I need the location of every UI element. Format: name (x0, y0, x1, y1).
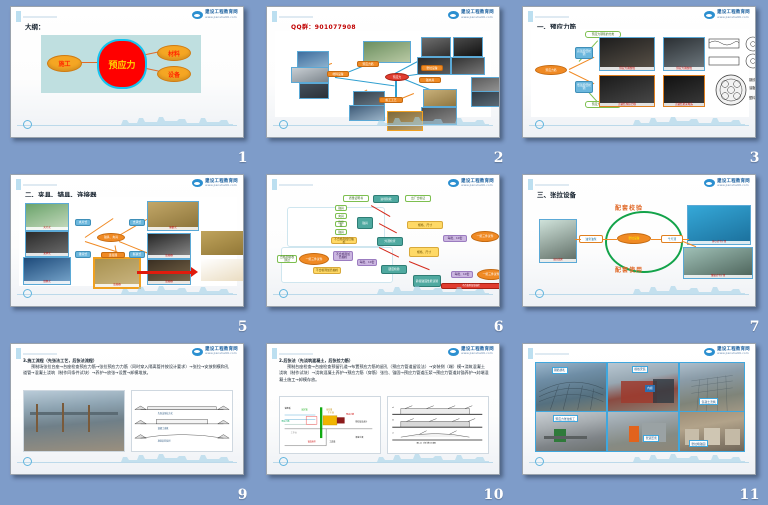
slide-cell-9[interactable]: 建设工程教育网 www.jianshe99.com 3.施工流程（先张法工艺，后… (0, 337, 256, 505)
slide-number-3: 3 (750, 150, 760, 166)
mindmap-center: 预应力 (99, 41, 145, 87)
node-anchor: 锚夹具 (419, 77, 441, 83)
body-paragraph: 预制场张拉台座→台座检查预应力筋→张拉预应力力筋（同时穿入隔离管并按设计要求）→… (23, 364, 233, 377)
brand-logo: 建设工程教育网 www.jianshe99.com (448, 11, 494, 19)
slide-cell-3[interactable]: 建设工程教育网 www.jianshe99.com 一、预应力筋 预应力钢筋的分… (512, 0, 768, 168)
logo-disc-icon (448, 348, 459, 356)
node-group-sample: 一组三件试件 (477, 269, 500, 280)
svg-text:钢绞线: 钢绞线 (749, 77, 756, 82)
photo-caption: 握裹式 (148, 227, 198, 230)
unbonded-section-diagram: 钢绞线 油脂 塑料护套 (709, 73, 756, 107)
brand-url: www.jianshe99.com (461, 184, 494, 187)
photo-tensioning-work: 预应力张拉施工 (536, 412, 606, 451)
node-hardness: 硬度检验 (381, 265, 407, 274)
node-batch: 每批、10套 (357, 259, 377, 266)
slide-5[interactable]: 建设工程教育网 www.jianshe99.com 二、夹具、锚具、连接器 夹片… (10, 174, 244, 306)
node-grip: 握裹式 (129, 251, 145, 258)
logo-disc-icon (192, 179, 203, 187)
slide-7[interactable]: 建设工程教育网 www.jianshe99.com 三、张拉设备 配套校验 配套… (522, 174, 756, 306)
flow-canvas: 进场验收 质量证明书 出厂合格证 锚具 锚具 夹具 连接器 锚具 外观检查 规格… (275, 189, 493, 285)
figure-row: 先张法张拉方式 混凝土浇筑 放张后的反拱 (23, 390, 233, 452)
brand-logo: 建设工程教育网 www.jianshe99.com (448, 179, 494, 187)
slide-body: 3.施工流程（先张法工艺，后张法流程） 预制场张拉台座→台座检查预应力筋→张拉预… (23, 358, 233, 377)
node-anchor-group: 锚具 (357, 217, 373, 229)
slide-number-9: 9 (238, 487, 248, 503)
node-low-relax: 低强度低松弛 (575, 81, 593, 93)
node-group-sample: 一组三件试件 (471, 231, 499, 242)
slide-number-1: 1 (238, 150, 248, 166)
decor-line (23, 16, 57, 18)
logo-disc-icon (448, 179, 459, 187)
node-spec-check: 规格、尺寸 (409, 247, 439, 257)
brand-logo: 建设工程教育网 www.jianshe99.com (192, 11, 238, 19)
svg-text:塑料护套: 塑料护套 (749, 95, 756, 100)
svg-text:锚垫板: 锚垫板 (285, 406, 291, 410)
brand-url: www.jianshe99.com (717, 184, 750, 187)
svg-text:工作台: 工作台 (291, 430, 297, 434)
slide-footer (11, 118, 243, 132)
node-note: 不合格则加倍抽检 (331, 237, 357, 244)
slide-11[interactable]: 建设工程教育网 www.jianshe99.com 钢筋绑扎 (522, 343, 756, 475)
svg-text:a): a) (392, 407, 394, 409)
post-tension-stages-diagram: a) b) c) 图2-14 后张法施工示意图 (387, 396, 489, 454)
strand-diagram (707, 35, 756, 71)
photo-concrete-pour: 混凝土浇筑 (680, 363, 744, 411)
slide-number-6: 6 (494, 319, 504, 335)
logo-disc-icon (704, 348, 715, 356)
photo-label: 管道压浆 (643, 435, 659, 442)
footer-circle-icon (23, 120, 32, 129)
arrow-head-icon (191, 267, 198, 277)
slide-number-10: 10 (484, 487, 504, 503)
node-item: 锚具 (335, 205, 347, 211)
ring-top-label: 配套校验 (615, 203, 643, 212)
svg-text:限位板及夹片: 限位板及夹片 (355, 420, 367, 424)
brand-url: www.jianshe99.com (205, 16, 238, 19)
photo-caption: 夹片式 (26, 227, 68, 230)
svg-text:预应力筋: 预应力筋 (346, 412, 354, 416)
photo-formwork: 模板安装 内模 (608, 363, 678, 411)
brand-logo: 建设工程教育网 www.jianshe99.com (192, 348, 238, 356)
svg-text:固定端: 固定端 (302, 407, 308, 411)
photo-caption: 锥塞式 (24, 281, 70, 284)
slide-cell-10[interactable]: 建设工程教育网 www.jianshe99.com 2.后张法（先浇筑混凝土，后… (256, 337, 512, 505)
anchorage-detail-diagram: 锚垫板 固定端 张拉端 预应力筋 千斤顶 预应力筋 限位板及夹片 工作台 锚具组… (279, 396, 381, 454)
photo-caption: 无粘结筋束端头 (664, 103, 704, 106)
brand-url: www.jianshe99.com (717, 16, 750, 19)
node-factory-cert: 出厂合格证 (405, 195, 431, 202)
logo-disc-icon (192, 11, 203, 19)
slide-1[interactable]: 建设工程教育网 www.jianshe99.com 大纲： 预应力 施工 材料 … (10, 6, 244, 138)
node-spec-size: 规格、尺寸 (407, 221, 443, 229)
slide-3[interactable]: 建设工程教育网 www.jianshe99.com 一、预应力筋 预应力钢筋的分… (522, 6, 756, 138)
node-hardness-value: 不合格则加倍抽检 (333, 251, 353, 261)
node-appearance: 外观检查 (377, 237, 403, 246)
slide-cell-7[interactable]: 建设工程教育网 www.jianshe99.com 三、张拉设备 配套校验 配套… (512, 168, 768, 336)
photo-caption: 锥锚式千斤顶 (684, 275, 752, 278)
logo-disc-icon (192, 348, 203, 356)
photo-caption: 预应力钢绞线 (664, 67, 704, 70)
photo-caption: 穿心式千斤顶 (688, 241, 750, 244)
node-oil-pump: 油泵油泵 (579, 235, 603, 243)
logo-disc-icon (704, 179, 715, 187)
site-photo (23, 390, 125, 452)
logo-disc-icon (704, 11, 715, 19)
node-wedge: 夹片式 (75, 219, 91, 226)
photo-rebar: 钢筋绑扎 (536, 363, 606, 411)
node-jack: 千斤顶 (661, 235, 683, 243)
brand-logo: 建设工程教育网 www.jianshe99.com (704, 348, 750, 356)
photo-label: 张拉端锚固 (689, 440, 708, 447)
node-item: 夹具 (335, 213, 347, 219)
brand-url: www.jianshe99.com (461, 352, 494, 355)
slide-number-7: 7 (750, 319, 760, 335)
mindmap-branch-equipment: 设备 (157, 66, 191, 82)
node-jack: 张拉设备 (421, 65, 443, 71)
node-process: 施工工艺 (379, 97, 403, 103)
slide-cell-1[interactable]: 建设工程教育网 www.jianshe99.com 大纲： 预应力 施工 材料 … (0, 0, 256, 168)
ring-canvas: 配套校验 配套使用 高压油泵 穿心式千斤顶 锥锚式千斤顶 油泵油泵 张拉设备 千… (531, 197, 749, 285)
svg-text:工具锚: 工具锚 (329, 440, 335, 444)
arrow-line (137, 271, 193, 274)
logo-disc-icon (448, 11, 459, 19)
photo-label: 钢筋绑扎 (552, 367, 568, 374)
decor-mark (16, 11, 21, 22)
node-cone: 锥塞式 (75, 251, 91, 258)
brand-logo: 建设工程教育网 www.jianshe99.com (192, 179, 238, 187)
mindmap-branch-material: 材料 (157, 45, 191, 61)
node-connector: 连接器 (101, 252, 125, 258)
page-title: 大纲： (25, 21, 45, 31)
photo-label: 混凝土浇筑 (699, 398, 718, 405)
mindmap-canvas: 预应力 施工 材料 设备 (41, 35, 201, 93)
svg-text:锚具组件: 锚具组件 (308, 440, 316, 444)
node-high-strength: 高强度低松弛 (575, 47, 593, 59)
slide-cell-2[interactable]: 建设工程教育网 www.jianshe99.com QQ群：901077908 (256, 0, 512, 168)
slide-cell-6[interactable]: 建设工程教育网 www.jianshe99.com 进场验收 质量证明书 出厂合… (256, 168, 512, 336)
slide-cell-5[interactable]: 建设工程教育网 www.jianshe99.com 二、夹具、锚具、连接器 夹片… (0, 168, 256, 336)
mindmap-branch-construction: 施工 (47, 55, 82, 72)
svg-text:c): c) (392, 433, 394, 435)
photo-caption: 支承式 (26, 253, 68, 256)
svg-text:先张法张拉方式: 先张法张拉方式 (158, 411, 174, 415)
node-pass: 合格则验收通过 (277, 255, 297, 263)
node-acceptance: 进场验收 (373, 195, 399, 203)
mindmap-center: 预应力 (385, 73, 409, 81)
photo-caption: 连接器 (148, 255, 190, 258)
node-quality-cert: 质量证明书 (343, 195, 369, 202)
slide-10[interactable]: 建设工程教育网 www.jianshe99.com 2.后张法（先浇筑混凝土，后… (266, 343, 500, 475)
skyline-watermark (113, 115, 233, 125)
svg-text:放张后的反拱: 放张后的反拱 (158, 439, 172, 443)
mindmap-canvas: 夹片式 支承式 锥塞式 握裹式 连接器 连接器 (19, 197, 237, 285)
qq-group-text: QQ群：901077908 (291, 22, 356, 31)
slide-cell-11[interactable]: 建设工程教育网 www.jianshe99.com 钢筋绑扎 (512, 337, 768, 505)
slide-6[interactable]: 建设工程教育网 www.jianshe99.com 进场验收 质量证明书 出厂合… (266, 174, 500, 306)
node-support: 支承式 (129, 219, 145, 226)
svg-text:混凝土浇筑: 混凝土浇筑 (158, 426, 170, 430)
photo-grouting: 管道压浆 (608, 412, 678, 451)
brand-logo: 建设工程教育网 www.jianshe99.com (448, 348, 494, 356)
brand-url: www.jianshe99.com (205, 184, 238, 187)
photo-label: 内模 (645, 385, 656, 392)
slide-9[interactable]: 建设工程教育网 www.jianshe99.com 3.施工流程（先张法工艺，后… (10, 343, 244, 475)
node-item: 连接器 (335, 221, 347, 227)
photo-caption: 高压油泵 (540, 259, 576, 262)
brand-url: www.jianshe99.com (461, 16, 494, 19)
svg-text:b): b) (392, 420, 394, 422)
photo-grid: 钢筋绑扎 模板安装 内模 (535, 362, 745, 452)
slide-thumbnail-grid: 建设工程教育网 www.jianshe99.com 大纲： 预应力 施工 材料 … (0, 0, 768, 505)
slide-2[interactable]: 建设工程教育网 www.jianshe99.com QQ群：901077908 (266, 6, 500, 138)
body-paragraph: 预制台座检查→台座检查预留孔道→布置预应力筋的留孔（预应力管道留设法）→安装侧（… (279, 364, 489, 383)
brand-url: www.jianshe99.com (205, 352, 238, 355)
figure-row: 锚垫板 固定端 张拉端 预应力筋 千斤顶 预应力筋 限位板及夹片 工作台 锚具组… (279, 396, 489, 454)
photo-caption: 预应力钢绞线 (600, 67, 654, 70)
photo-label: 预应力张拉施工 (553, 415, 578, 422)
node-item: 锚具 (335, 229, 347, 235)
svg-text:图2-14 后张法施工示意图: 图2-14 后张法施工示意图 (417, 442, 437, 445)
node-note: 不合格则加倍抽检 (313, 267, 341, 274)
ring-bottom-label: 配套使用 (615, 265, 643, 274)
brand-logo: 建设工程教育网 www.jianshe99.com (704, 11, 750, 19)
svg-text:混凝土梁: 混凝土梁 (355, 435, 363, 439)
node-batch: 每批、10套 (443, 235, 467, 242)
brand-logo: 建设工程教育网 www.jianshe99.com (704, 179, 750, 187)
photo-caption: 无粘结预应力筋 (600, 103, 654, 106)
photo-mindmap-canvas: 预应力 预应力筋 锚夹具 张拉设备 施工工艺 材料设备 (275, 31, 491, 117)
mindmap-center: 预应力筋 (535, 65, 567, 75)
svg-text:油脂: 油脂 (749, 85, 756, 90)
photo-anchor-end: 张拉端锚固 (680, 412, 744, 451)
node-batch: 每批、10套 (451, 271, 473, 278)
node-material: 材料设备 (327, 71, 349, 77)
slide-number-11: 11 (740, 487, 760, 503)
slide-number-2: 2 (494, 150, 504, 166)
tensioning-diagram: 先张法张拉方式 混凝土浇筑 放张后的反拱 (131, 390, 233, 452)
slide-number-5: 5 (238, 319, 248, 335)
node-tendon: 预应力筋 (357, 61, 379, 67)
svg-text:张拉端: 张拉端 (326, 407, 332, 411)
brand-url: www.jianshe99.com (717, 352, 750, 355)
mindmap-canvas: 预应力钢筋的分类 预应力钢筋的张拉 预应力筋 高强度低松弛 低强度低松弛 预应力… (531, 29, 749, 117)
slide-body: 2.后张法（先浇筑混凝土，后张拉力筋） 预制台座检查→台座检查预留孔道→布置预应… (279, 358, 489, 383)
photo-label: 模板安装 (632, 366, 648, 373)
